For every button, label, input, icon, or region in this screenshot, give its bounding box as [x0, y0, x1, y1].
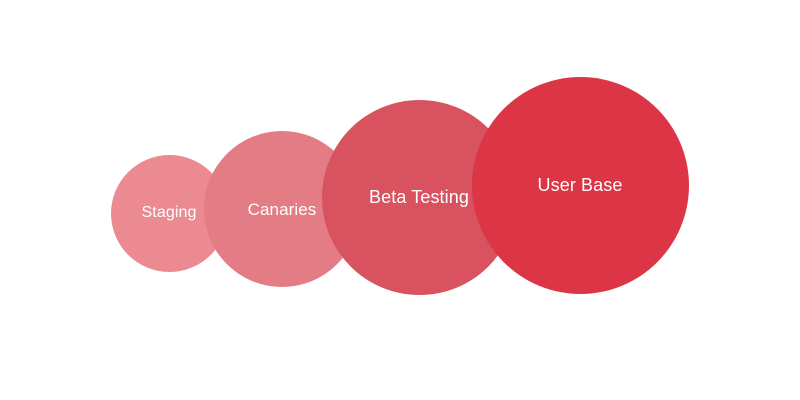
- bubble-label-user-base: User Base: [538, 176, 623, 194]
- bubble-label-beta-testing: Beta Testing: [369, 188, 469, 206]
- bubble-user-base[interactable]: User Base: [472, 77, 689, 294]
- bubble-label-staging: Staging: [142, 205, 197, 221]
- bubble-label-canaries: Canaries: [248, 201, 317, 218]
- bubble-funnel-chart: Staging Canaries Beta Testing User Base: [0, 0, 800, 400]
